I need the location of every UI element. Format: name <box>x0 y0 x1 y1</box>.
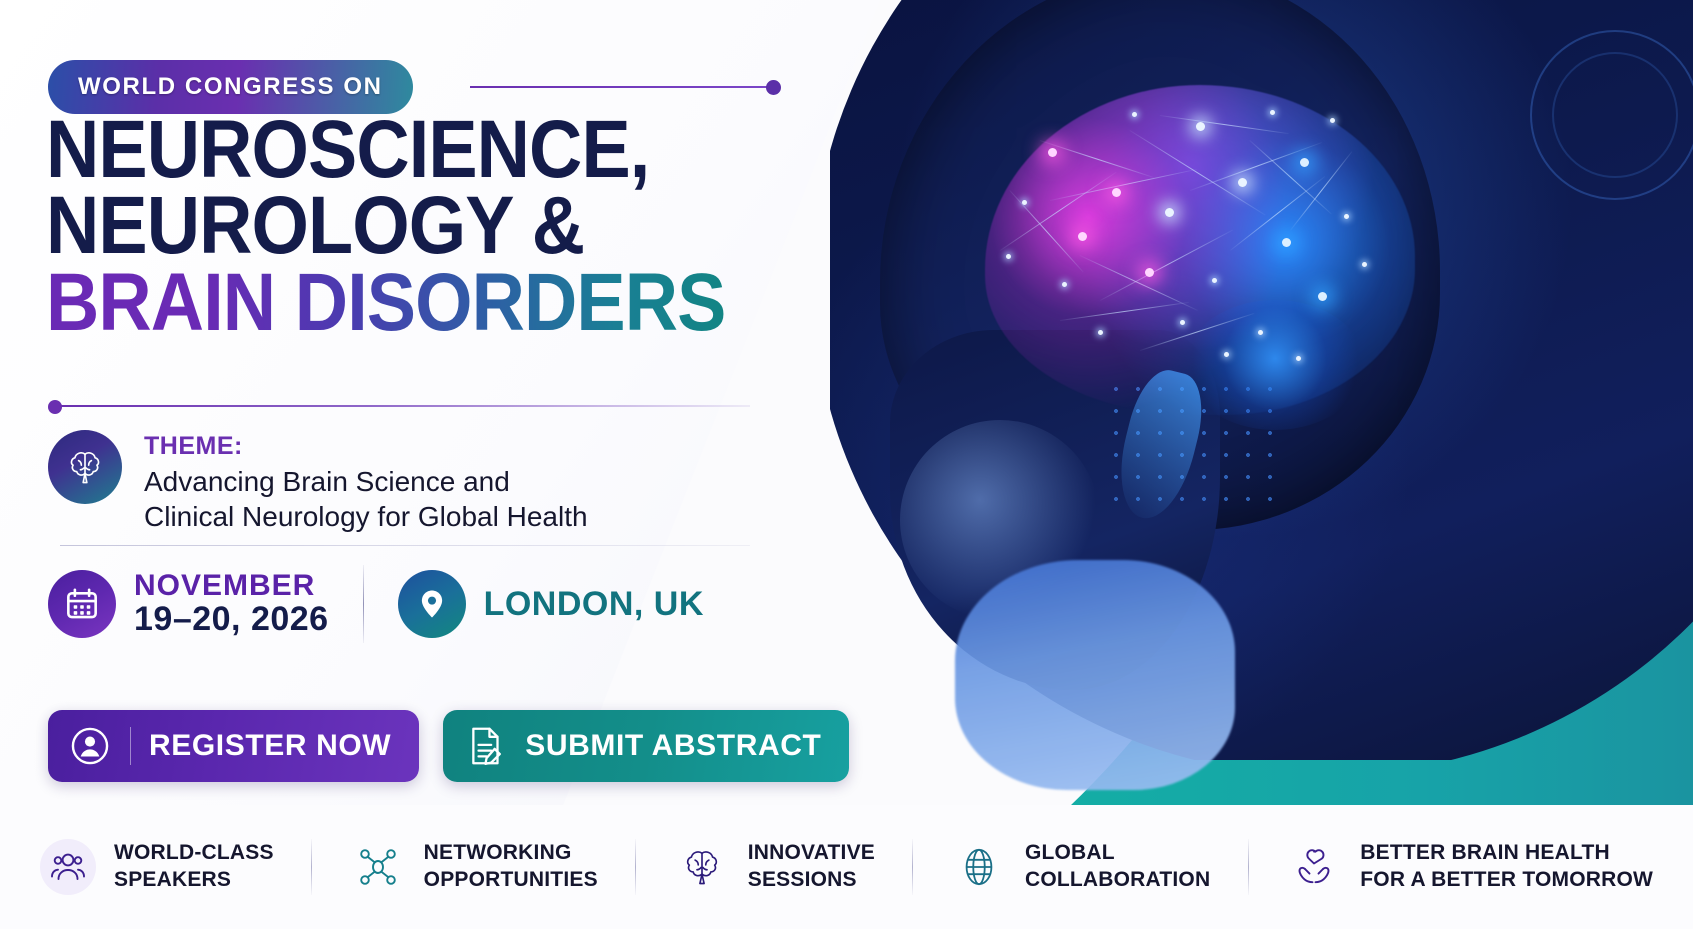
button-separator <box>130 727 131 765</box>
theme-meta-divider <box>60 545 750 546</box>
brain-icon <box>48 430 122 504</box>
submit-abstract-label: SUBMIT ABSTRACT <box>525 729 821 763</box>
feature-item-networking-opportunities: NETWORKING OPPORTUNITIES <box>350 839 598 895</box>
title-line-1: NEUROSCIENCE, <box>46 112 757 188</box>
conference-banner: WORLD CONGRESS ON NEUROSCIENCE, NEUROLOG… <box>0 0 1693 929</box>
theme-line-1: Advancing Brain Science and <box>144 464 588 499</box>
banner-content: WORLD CONGRESS ON NEUROSCIENCE, NEUROLOG… <box>0 0 900 805</box>
meta-divider <box>363 565 364 643</box>
page-title: NEUROSCIENCE, NEUROLOGY & BRAIN DISORDER… <box>46 112 757 341</box>
brain-icon <box>674 839 730 895</box>
heart-hands-icon <box>1286 839 1342 895</box>
event-month: NOVEMBER <box>134 570 329 602</box>
speakers-icon <box>40 839 96 895</box>
title-line-3: BRAIN DISORDERS <box>46 265 757 341</box>
feature-item-better-brain-health: BETTER BRAIN HEALTH FOR A BETTER TOMORRO… <box>1286 839 1653 895</box>
event-date: NOVEMBER 19–20, 2026 <box>48 570 329 638</box>
feature-label: BETTER BRAIN HEALTH FOR A BETTER TOMORRO… <box>1360 840 1653 894</box>
feature-item-global-collaboration: GLOBAL COLLABORATION <box>951 839 1210 895</box>
event-location: LONDON, UK <box>398 570 704 638</box>
badge-connector-dot <box>766 80 781 95</box>
divider-dot <box>48 400 62 414</box>
feature-label: INNOVATIVE SESSIONS <box>748 840 875 894</box>
cta-buttons: REGISTER NOW SUBMIT ABSTRACT <box>48 710 849 782</box>
feature-label: GLOBAL COLLABORATION <box>1025 840 1210 894</box>
register-now-button[interactable]: REGISTER NOW <box>48 710 419 782</box>
feature-separator <box>311 839 312 895</box>
document-pencil-icon <box>463 723 509 769</box>
feature-strip: WORLD-CLASS SPEAKERS NETWORKING OPPOR <box>0 805 1693 929</box>
theme-line-2: Clinical Neurology for Global Health <box>144 499 588 534</box>
network-icon <box>350 839 406 895</box>
feature-separator <box>635 839 636 895</box>
event-meta: NOVEMBER 19–20, 2026 LONDON, UK <box>48 565 704 643</box>
badge-connector-line <box>470 86 770 88</box>
feature-separator <box>912 839 913 895</box>
feature-item-innovative-sessions: INNOVATIVE SESSIONS <box>674 839 875 895</box>
title-line-2: NEUROLOGY & <box>46 188 757 264</box>
calendar-icon <box>48 570 116 638</box>
feature-label: NETWORKING OPPORTUNITIES <box>424 840 598 894</box>
feature-label: WORLD-CLASS SPEAKERS <box>114 840 274 894</box>
user-circle-icon <box>68 724 112 768</box>
register-now-label: REGISTER NOW <box>149 729 391 763</box>
submit-abstract-button[interactable]: SUBMIT ABSTRACT <box>443 710 849 782</box>
event-days: 19–20, 2026 <box>134 602 329 638</box>
feature-item-world-class-speakers: WORLD-CLASS SPEAKERS <box>40 839 274 895</box>
theme-label: THEME: <box>144 432 588 461</box>
feature-separator <box>1248 839 1249 895</box>
map-pin-icon <box>398 570 466 638</box>
globe-icon <box>951 839 1007 895</box>
event-city: LONDON, UK <box>484 585 704 624</box>
divider-line <box>60 405 750 407</box>
theme-section: THEME: Advancing Brain Science and Clini… <box>48 430 588 534</box>
